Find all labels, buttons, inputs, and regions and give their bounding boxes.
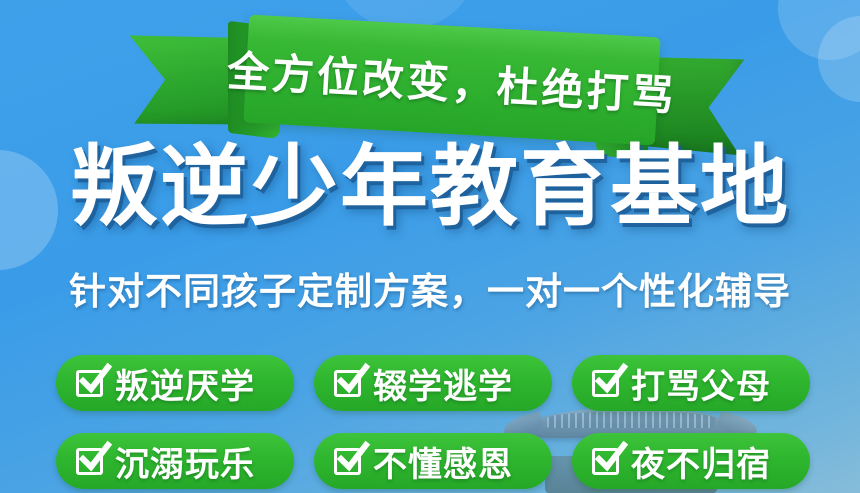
page-title: 叛逆少年教育基地 (0, 143, 860, 231)
promo-banner: 全方位改变，杜绝打骂 叛逆少年教育基地 针对不同孩子定制方案，一对一个性化辅导 … (0, 0, 860, 493)
tag-label: 叛逆厌学 (115, 359, 255, 408)
tag-pill[interactable]: 叛逆厌学 (56, 355, 294, 411)
checkbox-checked-icon (334, 370, 361, 397)
ribbon-banner: 全方位改变，杜绝打骂 (128, 18, 748, 154)
tag-pill[interactable]: 不懂感恩 (314, 433, 552, 489)
tag-pill[interactable]: 辍学逃学 (314, 355, 552, 411)
tag-label: 沉溺玩乐 (115, 437, 255, 486)
tag-label: 打骂父母 (631, 359, 771, 408)
tag-label: 辍学逃学 (373, 359, 513, 408)
ribbon-band: 全方位改变，杜绝打骂 (243, 15, 660, 146)
tag-label: 不懂感恩 (373, 437, 513, 486)
page-subtitle: 针对不同孩子定制方案，一对一个性化辅导 (0, 273, 860, 310)
tag-pill[interactable]: 夜不归宿 (572, 433, 810, 489)
checkbox-checked-icon (592, 370, 619, 397)
tag-pill[interactable]: 沉溺玩乐 (56, 433, 294, 489)
tag-label: 夜不归宿 (631, 437, 771, 486)
tag-list: 叛逆厌学 辍学逃学 打骂父母 沉溺玩乐 不懂感恩 (56, 355, 810, 489)
checkbox-checked-icon (592, 448, 619, 475)
checkbox-checked-icon (76, 370, 103, 397)
checkbox-checked-icon (76, 448, 103, 475)
tag-pill[interactable]: 打骂父母 (572, 355, 810, 411)
ribbon-text: 全方位改变，杜绝打骂 (226, 37, 679, 123)
checkbox-checked-icon (334, 448, 361, 475)
